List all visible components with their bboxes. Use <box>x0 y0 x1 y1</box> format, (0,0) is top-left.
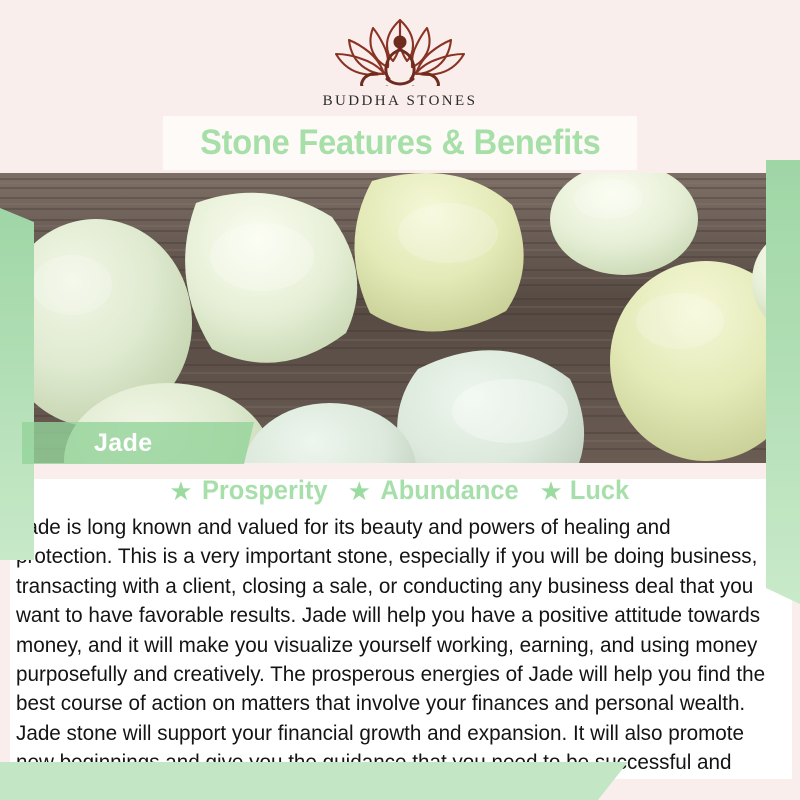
stone-name-label: Jade <box>94 429 153 458</box>
star-icon: ★ <box>539 478 562 504</box>
decor-ribbon-bottom <box>0 762 628 800</box>
content-area: ★Prosperity ★Abundance ★Luck Jade is lon… <box>0 463 800 800</box>
keyword-label: Prosperity <box>202 477 328 504</box>
star-icon: ★ <box>348 478 371 504</box>
keyword-label: Abundance <box>380 477 518 504</box>
stone-description: Jade is long known and valued for its be… <box>16 513 767 800</box>
keyword-item: ★Prosperity <box>169 477 331 504</box>
star-icon: ★ <box>169 478 192 504</box>
stone-name-band: Jade <box>22 422 254 464</box>
header: BUDDHA STONES <box>0 0 800 118</box>
keyword-label: Luck <box>570 477 629 504</box>
brand-name: BUDDHA STONES <box>0 93 800 110</box>
keyword-item: ★Luck <box>539 477 630 504</box>
stone-benefits-card: BUDDHA STONES Stone Features & Benefits … <box>0 0 800 800</box>
keyword-item: ★Abundance <box>348 477 523 504</box>
jade-stones-photo <box>0 173 800 463</box>
title-banner: Stone Features & Benefits <box>163 116 637 170</box>
decor-ribbon-left <box>0 208 34 560</box>
brand-logo: BUDDHA STONES <box>0 14 800 110</box>
lotus-meditation-icon <box>330 14 470 86</box>
page-title: Stone Features & Benefits <box>200 123 601 163</box>
keyword-list: ★Prosperity ★Abundance ★Luck <box>0 477 800 504</box>
decor-ribbon-right <box>766 160 800 604</box>
